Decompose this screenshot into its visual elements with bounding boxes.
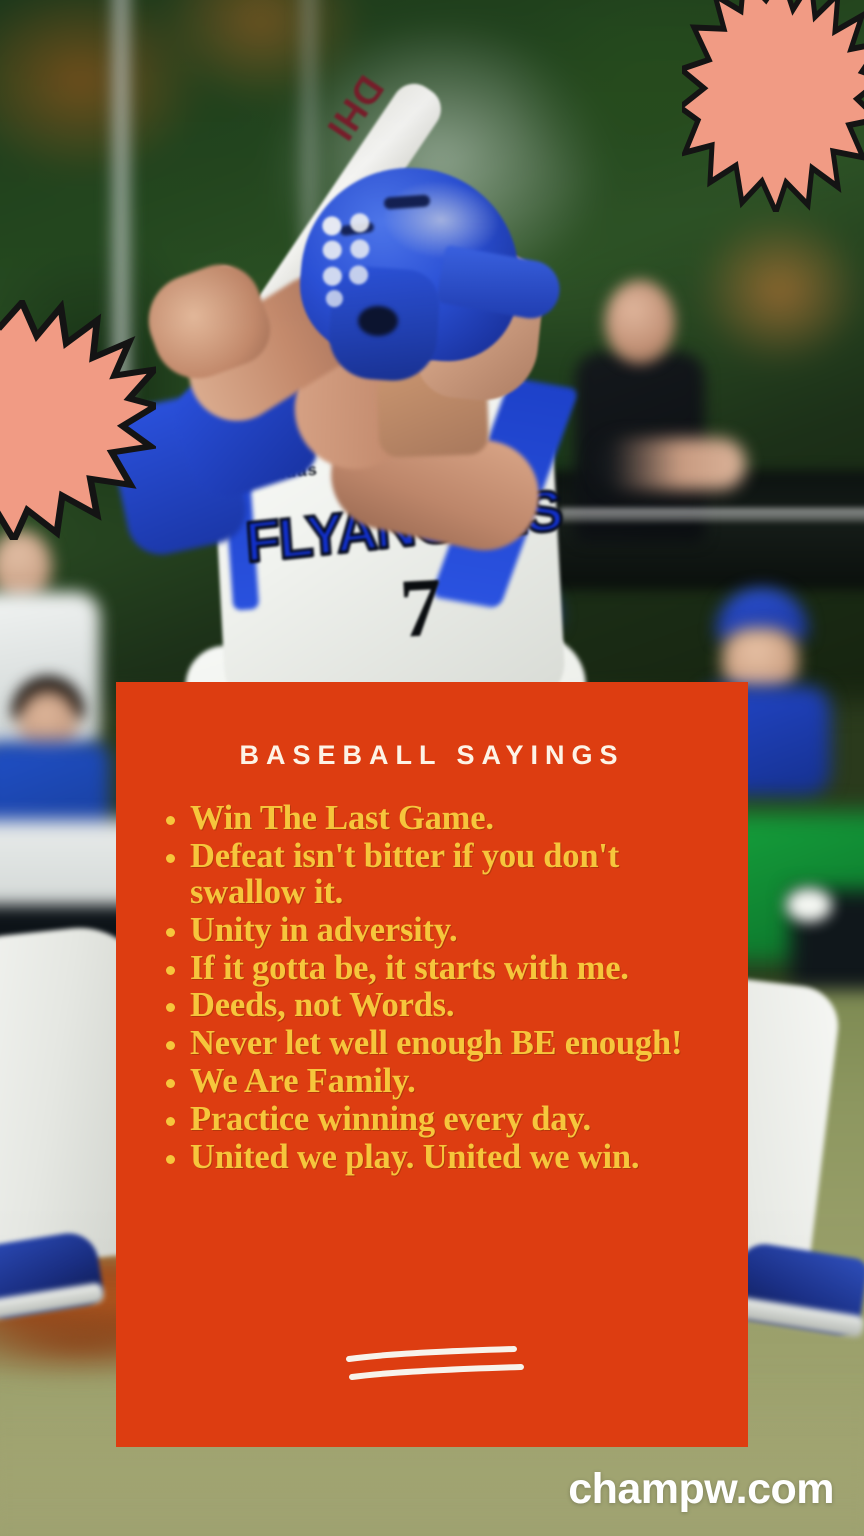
sayings-card: BASEBALL SAYINGS Win The Last Game. Defe…	[116, 682, 748, 1447]
site-watermark: champw.com	[568, 1465, 834, 1514]
underline-decoration	[116, 1341, 748, 1387]
list-item: Never let well enough BE enough!	[190, 1026, 726, 1062]
list-item: United we play. United we win.	[190, 1140, 726, 1176]
sayings-list: Win The Last Game. Defeat isn't bitter i…	[116, 801, 748, 1176]
card-title: BASEBALL SAYINGS	[116, 682, 748, 771]
list-item: Practice winning every day.	[190, 1102, 726, 1138]
background-coach-arm	[596, 438, 746, 490]
player-helmet-decals	[309, 207, 391, 314]
starburst-icon-top-right	[682, 0, 864, 212]
poster-canvas: adidas FLYANGLES 7 DHI	[0, 0, 864, 1536]
list-item: Defeat isn't bitter if you don't swallow…	[190, 839, 726, 911]
jersey-number-text: 7	[397, 559, 444, 658]
list-item: If it gotta be, it starts with me.	[190, 951, 726, 987]
list-item: We Are Family.	[190, 1064, 726, 1100]
starburst-icon-left	[0, 300, 156, 540]
background-fence-rail	[560, 508, 864, 522]
list-item: Win The Last Game.	[190, 801, 726, 837]
list-item: Unity in adversity.	[190, 913, 726, 949]
background-light-flare	[786, 888, 832, 922]
background-coach-head	[605, 280, 675, 364]
list-item: Deeds, not Words.	[190, 988, 726, 1024]
